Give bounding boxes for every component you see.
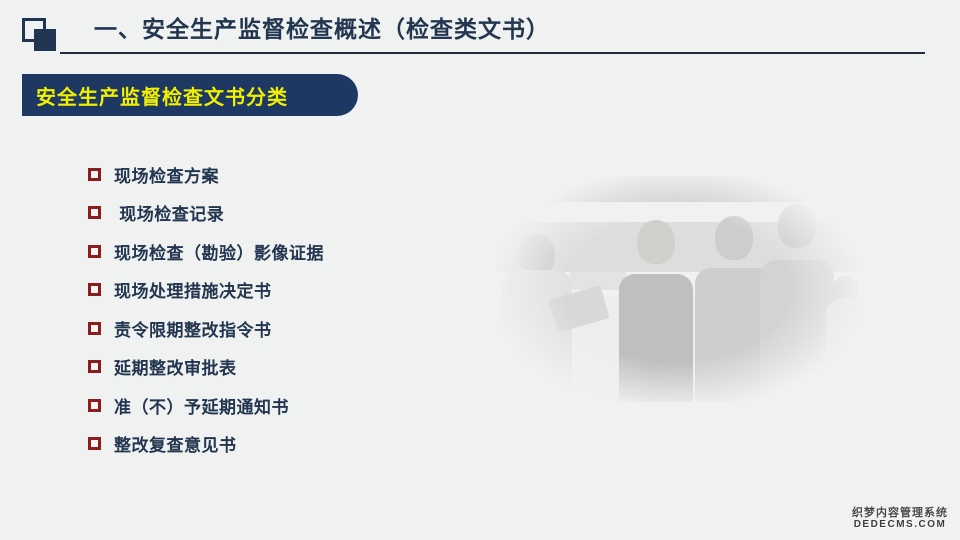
list-item-label: 现场处理措施决定书 — [114, 277, 272, 302]
list-item-label: 现场检查记录 — [114, 200, 224, 225]
list-item-label: 延期整改审批表 — [114, 354, 237, 379]
list-item: 现场检查记录 — [88, 194, 488, 233]
square-bullet-icon — [88, 245, 101, 258]
list-item: 现场检查方案 — [88, 155, 488, 194]
document-type-list: 现场检查方案 现场检查记录 现场检查（勘验）影像证据 现场处理措施决定书 责令限… — [88, 155, 488, 463]
person-head — [637, 220, 675, 264]
list-item: 延期整改审批表 — [88, 348, 488, 387]
list-item-label: 现场检查方案 — [114, 162, 219, 187]
list-item-label: 责令限期整改指令书 — [114, 316, 272, 341]
slide-root: 一、安全生产监督检查概述（检查类文书） 安全生产监督检查文书分类 现场检查方案 … — [0, 0, 960, 540]
square-filled-shape — [34, 29, 56, 51]
person-figure — [616, 210, 696, 402]
page-title: 一、安全生产监督检查概述（检查类文书） — [94, 14, 550, 44]
square-bullet-icon — [88, 399, 101, 412]
square-bullet-icon — [88, 206, 101, 219]
person-body — [826, 298, 858, 402]
person-body — [502, 270, 572, 402]
square-bullet-icon — [88, 283, 101, 296]
list-item: 责令限期整改指令书 — [88, 309, 488, 348]
inspection-site-photo — [496, 176, 858, 402]
person-head — [778, 204, 816, 248]
section-banner-label: 安全生产监督检查文书分类 — [36, 81, 288, 110]
person-head — [715, 216, 753, 260]
list-item: 现场处理措施决定书 — [88, 271, 488, 310]
square-bullet-icon — [88, 322, 101, 335]
square-bullet-icon — [88, 168, 101, 181]
list-item-label: 准（不）予延期通知书 — [114, 393, 289, 418]
header-divider — [60, 52, 925, 54]
two-squares-icon — [22, 18, 60, 52]
watermark-en-text: DEDECMS.COM — [852, 519, 948, 530]
square-bullet-icon — [88, 360, 101, 373]
slide-header: 一、安全生产监督检查概述（检查类文书） — [0, 0, 960, 62]
photo-scene — [496, 176, 858, 402]
person-body — [760, 260, 834, 402]
watermark: 织梦内容管理系统 DEDECMS.COM — [852, 507, 948, 530]
person-figure — [758, 202, 836, 402]
list-item: 现场检查（勘验）影像证据 — [88, 232, 488, 271]
person-body — [619, 274, 693, 402]
square-bullet-icon — [88, 437, 101, 450]
list-item: 准（不）予延期通知书 — [88, 386, 488, 425]
list-item-label: 整改复查意见书 — [114, 431, 237, 456]
person-figure — [826, 252, 858, 402]
watermark-cn-text: 织梦内容管理系统 — [852, 507, 948, 519]
list-item: 整改复查意见书 — [88, 425, 488, 464]
section-banner: 安全生产监督检查文书分类 — [22, 74, 358, 116]
list-item-label: 现场检查（勘验）影像证据 — [114, 239, 324, 264]
